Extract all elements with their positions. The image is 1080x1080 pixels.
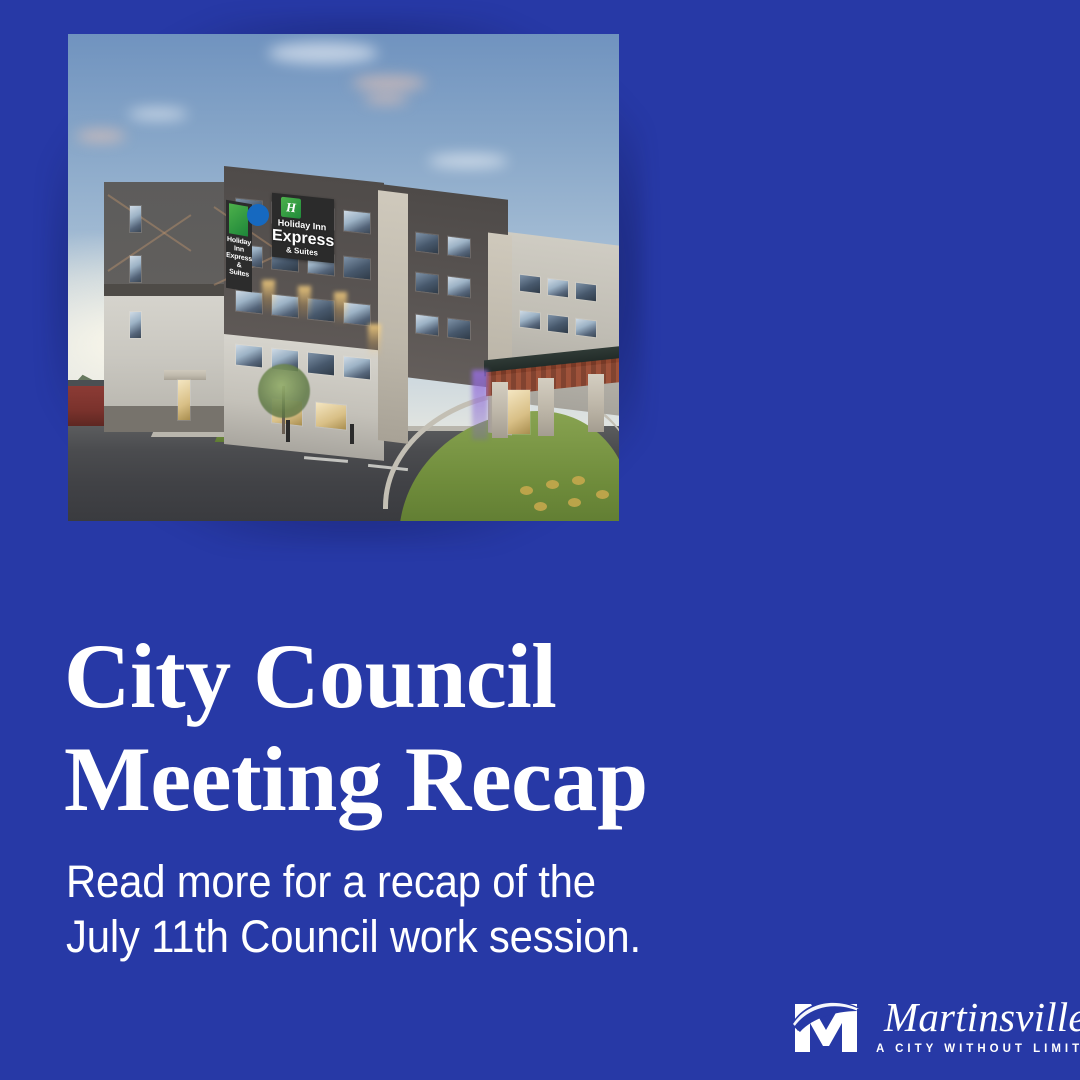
window (448, 277, 470, 298)
blade-sign-text: Holiday Inn Express & Suites (226, 236, 252, 281)
window (308, 299, 334, 322)
shrub (546, 480, 559, 489)
wall-sconce-light (334, 292, 347, 326)
window (272, 295, 298, 318)
page-title: City Council Meeting Recap (64, 625, 784, 831)
window (130, 206, 141, 232)
building-band (104, 284, 224, 296)
cloud (352, 76, 426, 90)
shrub (596, 490, 609, 499)
logo-tagline: A CITY WITHOUT LIMITS (876, 1043, 1080, 1055)
window (520, 311, 540, 329)
headline-line-2: Meeting Recap (64, 728, 784, 831)
window (576, 283, 596, 301)
stone-pier (378, 190, 408, 444)
shrub (572, 476, 585, 485)
hotel-photo: Holiday Inn Express & Suites Holiday Inn… (68, 34, 619, 521)
tree-canopy (258, 364, 310, 418)
blade-line-suites: & Suites (229, 262, 249, 279)
window (344, 357, 370, 380)
canopy-column (588, 374, 604, 432)
shrub (520, 486, 533, 495)
side-entry-canopy (164, 370, 206, 380)
window (130, 256, 141, 282)
canopy-column (492, 382, 508, 438)
social-post-card: Holiday Inn Express & Suites Holiday Inn… (0, 0, 1080, 1080)
building-plinth (104, 406, 224, 432)
logo-city-name: Martinsville (884, 997, 1080, 1038)
subtitle: Read more for a recap of the July 11th C… (66, 855, 736, 965)
subtitle-line-1: Read more for a recap of the (66, 855, 736, 910)
window (316, 402, 346, 429)
window (448, 237, 470, 258)
wall-sconce-light (368, 324, 381, 358)
wall-sconce-light (298, 286, 311, 320)
accent-uplight (472, 370, 488, 440)
holiday-inn-badge-icon (229, 203, 248, 236)
logo-wordmark: Martinsville A CITY WITHOUT LIMITS (876, 997, 1080, 1055)
window (520, 275, 540, 293)
cloud (428, 154, 508, 168)
cloud (364, 94, 408, 104)
window (576, 319, 596, 337)
cloud (128, 108, 188, 120)
window (448, 319, 470, 340)
shrub (568, 498, 581, 507)
window (344, 303, 370, 326)
headline-line-1: City Council (64, 625, 556, 727)
window (416, 273, 438, 294)
subtitle-line-2: July 11th Council work session. (66, 910, 736, 965)
window (416, 315, 438, 336)
holiday-inn-express-sign: Holiday Inn Express & Suites (272, 193, 334, 264)
bollard (286, 420, 290, 442)
window (130, 312, 141, 338)
window (344, 257, 370, 280)
cloud (76, 130, 126, 142)
bollard (350, 424, 354, 444)
martinsville-logo: Martinsville A CITY WITHOUT LIMITS (792, 997, 1080, 1055)
blade-line-holiday-inn: Holiday Inn (227, 236, 251, 254)
wall-sconce-light (262, 280, 275, 314)
window (308, 353, 334, 376)
window (548, 279, 568, 297)
m-monogram-icon (792, 997, 860, 1055)
shrub (534, 502, 547, 511)
window (416, 233, 438, 254)
side-entry-light (178, 380, 190, 420)
window (548, 315, 568, 333)
cloud (268, 42, 378, 64)
blue-dot-annotation-icon (247, 204, 269, 226)
window (344, 211, 370, 234)
window (236, 345, 262, 368)
lobby-entry-door (508, 390, 530, 434)
holiday-inn-badge-icon (281, 197, 301, 219)
window (236, 291, 262, 314)
canopy-column (538, 378, 554, 436)
